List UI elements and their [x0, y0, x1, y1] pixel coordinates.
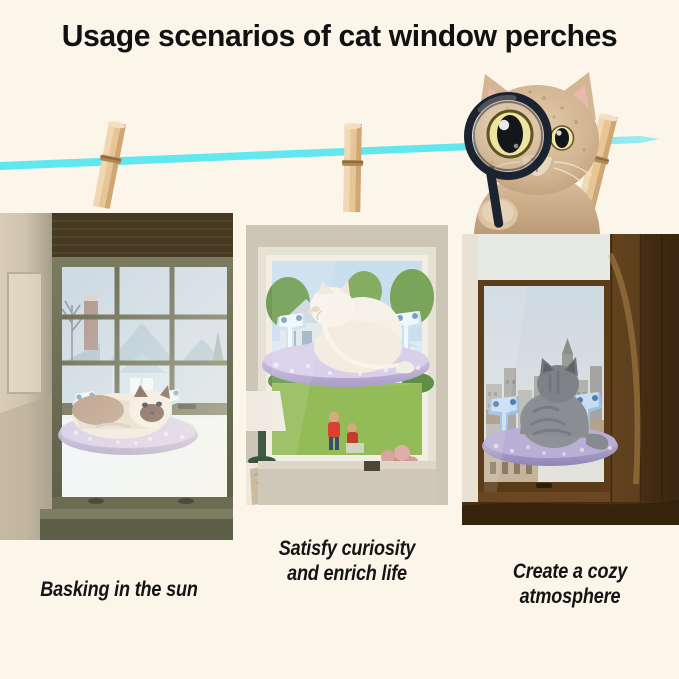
caption-panel-3-line2: atmosphere	[477, 585, 663, 610]
panel-1-photo	[0, 213, 233, 540]
clothespin-left	[86, 120, 132, 210]
panel-2-satisfy-curiosity	[246, 225, 448, 505]
page-title: Usage scenarios of cat window perches	[10, 18, 669, 54]
panel-1-basking-in-the-sun	[0, 213, 233, 540]
caption-panel-2: Satisfy curiosity and enrich life	[258, 537, 437, 587]
panel-3-create-a-cozy-atmosphere	[462, 234, 679, 525]
magnifier-lens	[468, 96, 548, 176]
caption-panel-1: Basking in the sun	[24, 578, 215, 603]
caption-panel-3-line1: Create a cozy	[477, 560, 663, 585]
caption-panel-2-line2: and enrich life	[258, 562, 437, 587]
caption-panel-2-line1: Satisfy curiosity	[258, 537, 437, 562]
clothespin-center	[330, 122, 374, 214]
caption-panel-3: Create a cozy atmosphere	[477, 560, 663, 610]
mascot-cat-with-magnifier	[452, 62, 622, 237]
caption-panel-1-text: Basking in the sun	[40, 578, 197, 601]
panel-3-photo	[462, 234, 679, 525]
poster-canvas: Usage scenarios of cat window perches	[0, 0, 679, 679]
panel-2-photo	[246, 225, 448, 505]
